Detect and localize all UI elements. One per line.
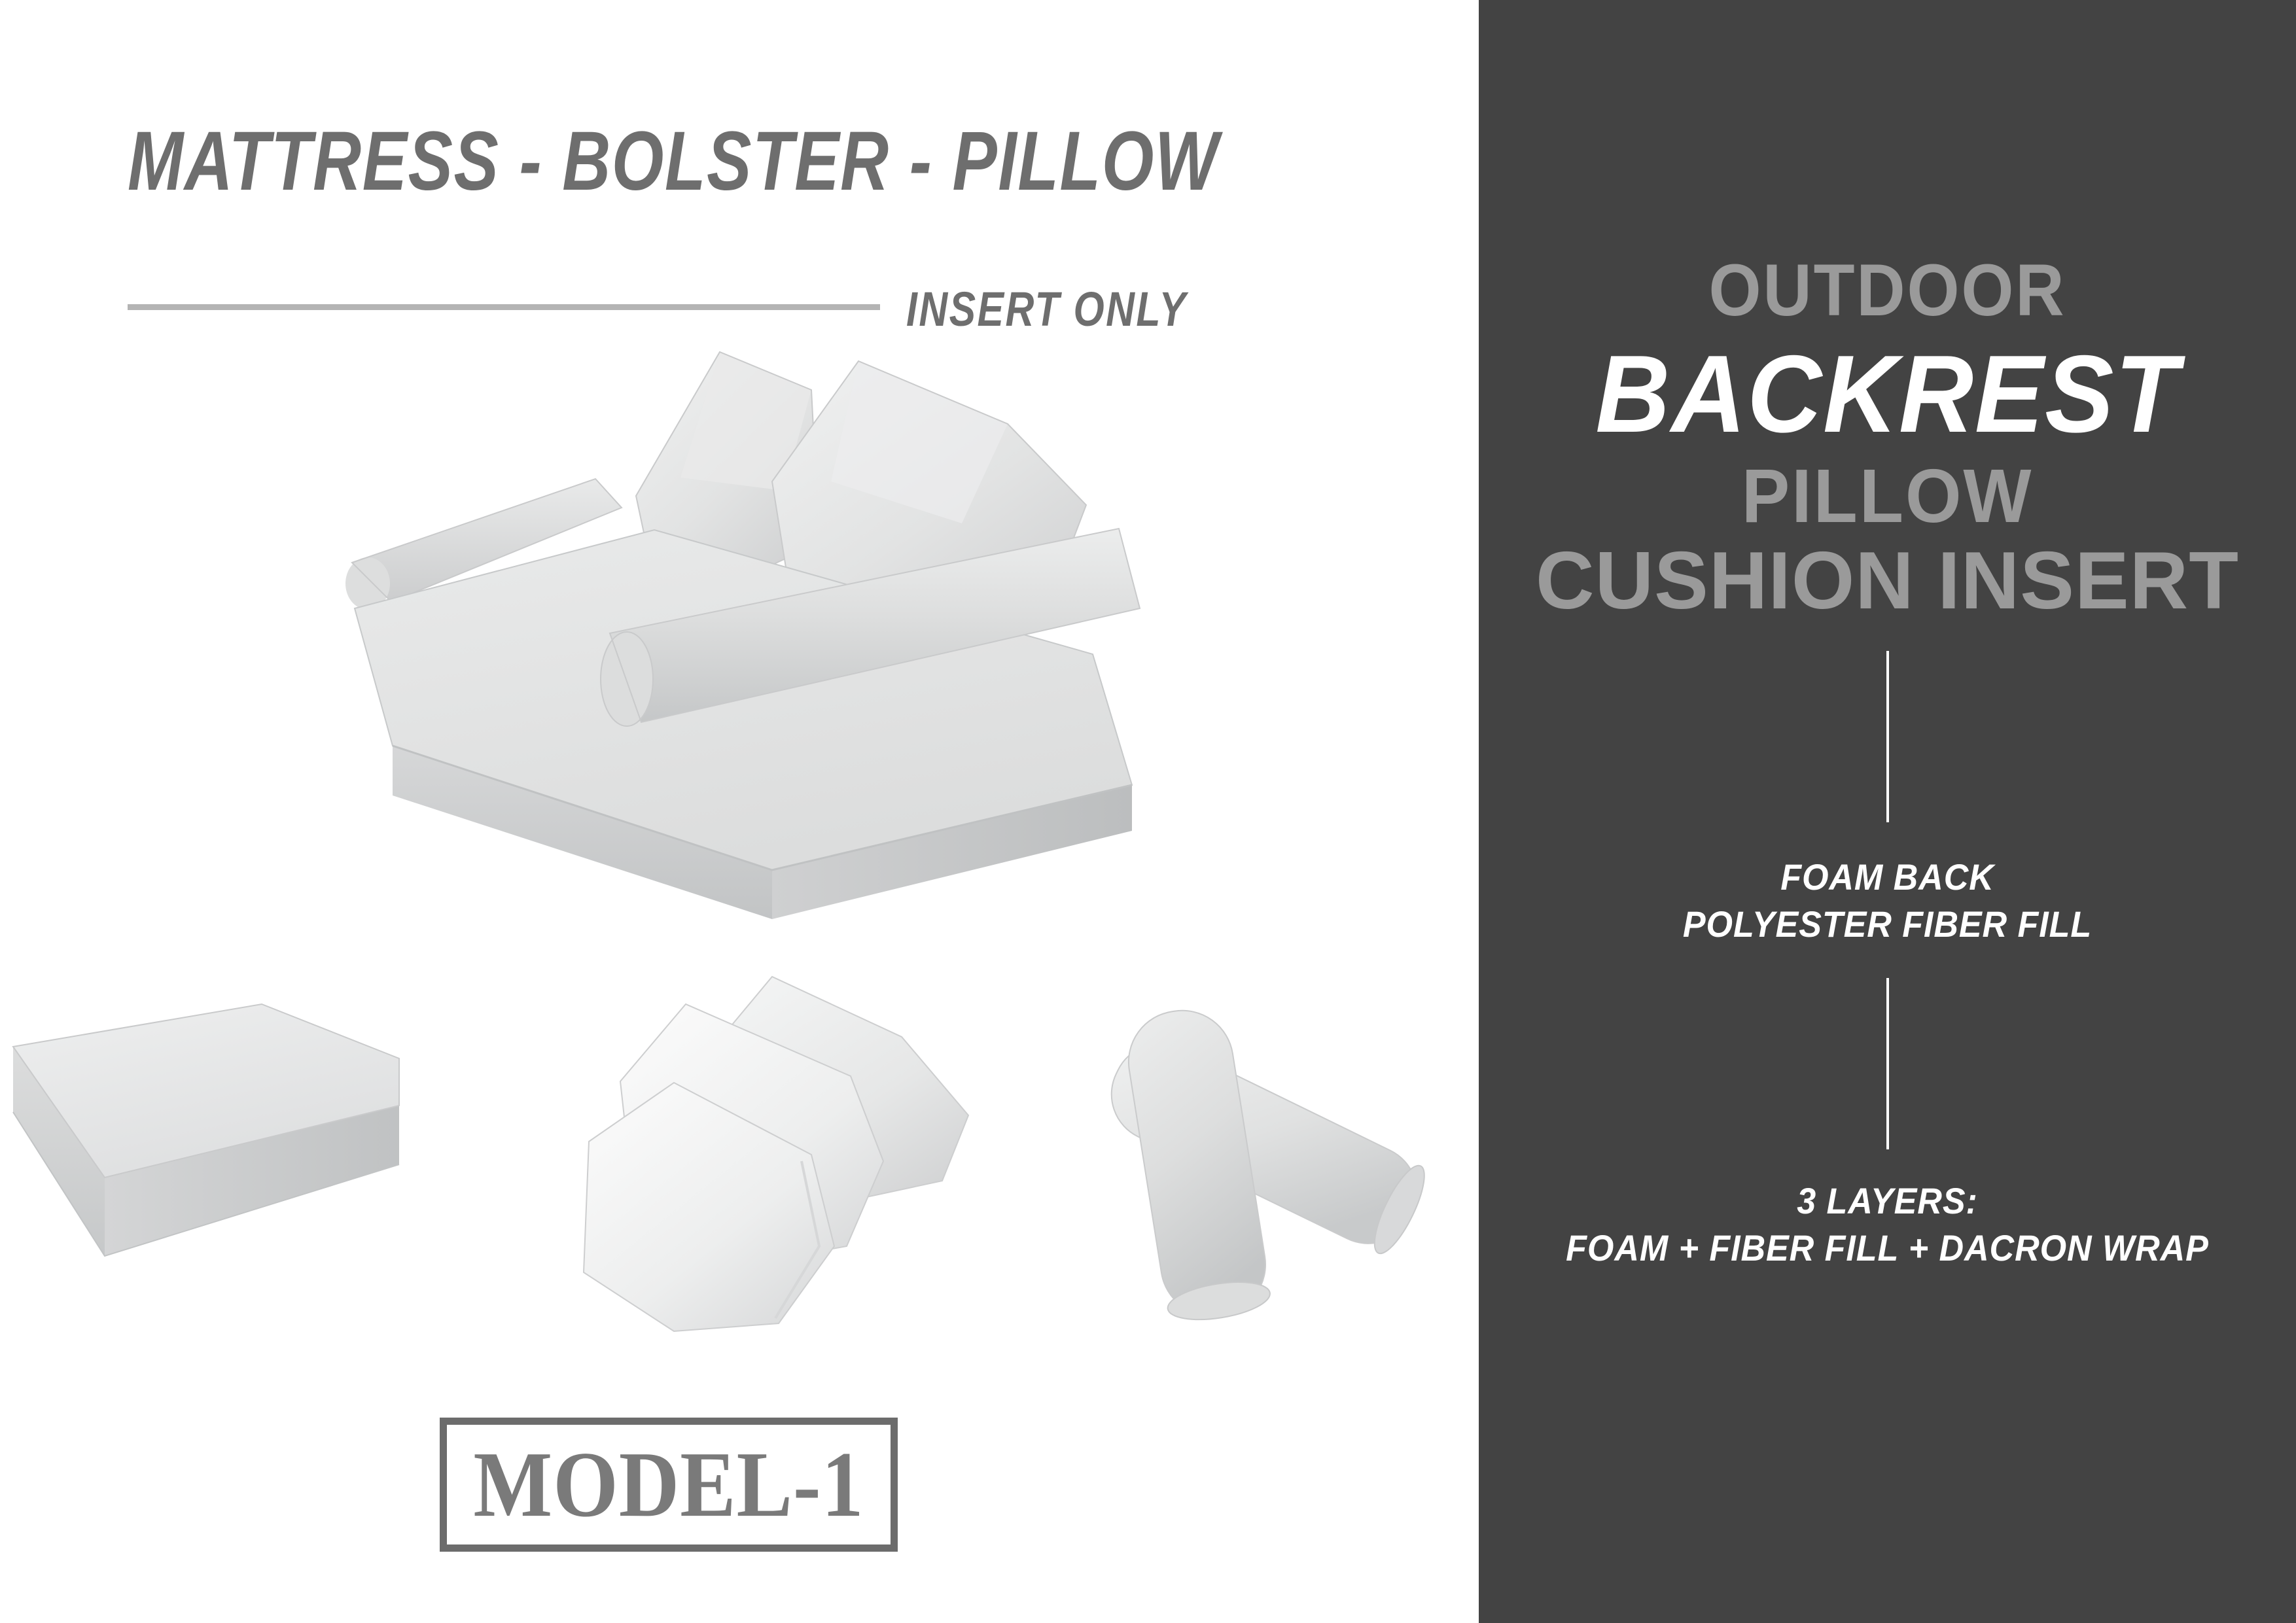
right-info-panel: OUTDOOR BACKREST PILLOW CUSHION INSERT F…	[1479, 0, 2296, 1623]
title-divider-rule	[128, 304, 880, 310]
component-backrest-pillow-inserts	[576, 965, 995, 1338]
panel-detail-polyester-fiber-fill: POLYESTER FIBER FILL	[1508, 901, 2268, 948]
left-content-panel: MATTRESS - BOLSTER - PILLOW INSERT ONLY	[0, 0, 1479, 1623]
component-bolster-pillow-inserts	[1047, 949, 1466, 1348]
product-marketing-image: MATTRESS - BOLSTER - PILLOW INSERT ONLY	[0, 0, 2296, 1623]
model-badge-label: MODEL-1	[473, 1431, 864, 1539]
headline-rule-row: INSERT ONLY	[128, 287, 1351, 332]
components-row	[0, 955, 1479, 1374]
panel-divider-bottom	[1886, 978, 1889, 1149]
panel-divider-top	[1886, 651, 1889, 822]
headline-block: MATTRESS - BOLSTER - PILLOW INSERT ONLY	[128, 118, 1351, 205]
model-badge: MODEL-1	[440, 1418, 898, 1552]
panel-detail-foam-back: FOAM BACK	[1508, 854, 2268, 901]
panel-detail-layers: 3 LAYERS: FOAM + FIBER FILL + DACRON WRA…	[1508, 1178, 2268, 1271]
panel-detail-three-layers: 3 LAYERS:	[1508, 1178, 2268, 1225]
panel-title-cushion-insert: CUSHION INSERT	[1479, 540, 2296, 621]
panel-title-backrest: BACKREST	[1503, 339, 2271, 449]
headline-main-title: MATTRESS - BOLSTER - PILLOW	[128, 118, 1106, 205]
hero-product-photo	[314, 327, 1178, 922]
panel-detail-layer-composition: FOAM + FIBER FILL + DACRON WRAP	[1508, 1225, 2268, 1272]
panel-title-pillow: PILLOW	[1499, 458, 2276, 534]
panel-title-outdoor: OUTDOOR	[1511, 254, 2263, 327]
component-mattress-insert	[7, 981, 412, 1321]
panel-detail-foam-fill: FOAM BACK POLYESTER FIBER FILL	[1508, 854, 2268, 947]
